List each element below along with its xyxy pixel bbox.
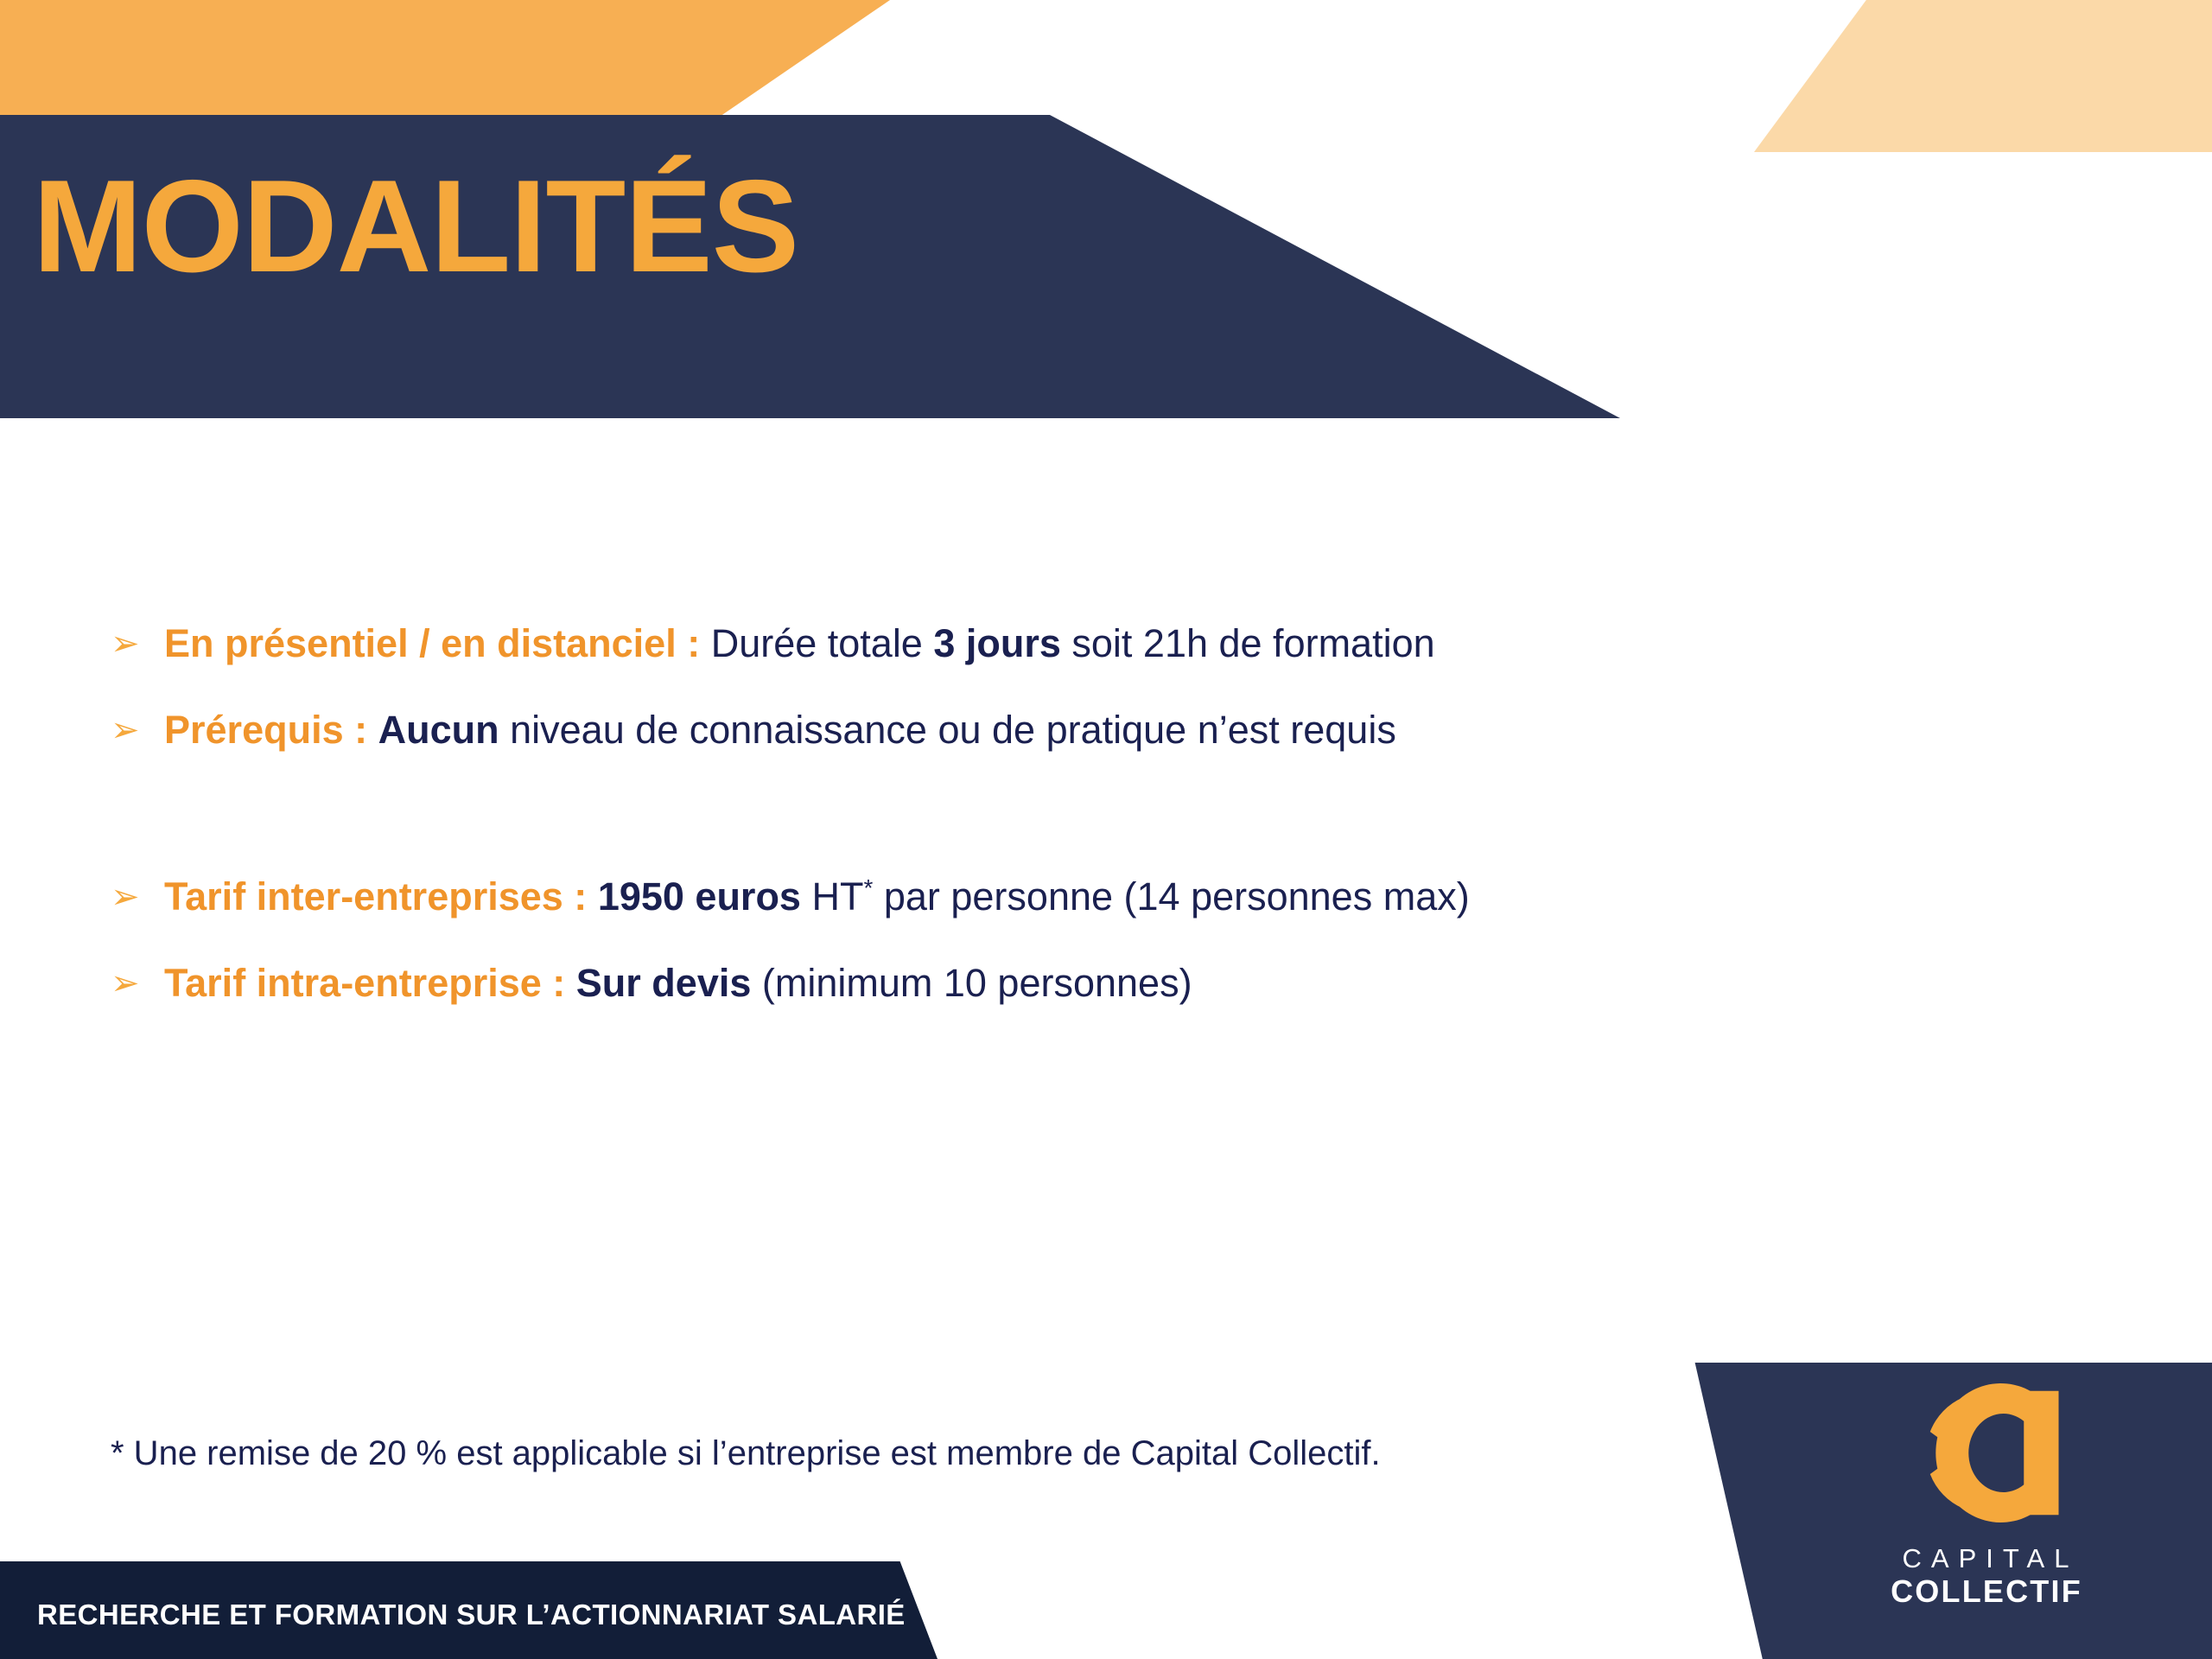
- capital-collectif-c-icon: [1910, 1377, 2062, 1529]
- bullet-tail-2: par personne (14 personnes max): [873, 874, 1469, 918]
- footnote-asterisk-marker: *: [863, 874, 873, 901]
- slide-canvas: MODALITÉS ➢ En présentiel / en distancie…: [0, 0, 2212, 1659]
- bullet-text: Tarif intra-entreprise : Sur devis (mini…: [164, 960, 1192, 1006]
- logo-word-collectif: COLLECTIF: [1870, 1574, 2101, 1609]
- bullet-tail: HT: [801, 874, 864, 918]
- bullet-lead-label: Tarif intra-entreprise :: [164, 961, 565, 1005]
- bullet-lead-label: Tarif inter-entreprises :: [164, 874, 587, 918]
- bullet-item-tarif-inter-entreprises: ➢ Tarif inter-entreprises : 1950 euros H…: [111, 874, 1752, 919]
- bullet-tail: (minimum 10 personnes): [751, 961, 1192, 1005]
- bullet-text: Tarif inter-entreprises : 1950 euros HT*…: [164, 874, 1470, 919]
- bullet-mid-normal: [587, 874, 598, 918]
- page-title: MODALITÉS: [33, 161, 798, 292]
- bullet-item-tarif-intra-entreprise: ➢ Tarif intra-entreprise : Sur devis (mi…: [111, 960, 1752, 1006]
- bullet-mid-strong: Aucun: [378, 708, 499, 752]
- footnote-text: * Une remise de 20 % est applicable si l…: [111, 1434, 1381, 1473]
- bullet-tail: soit 21h de formation: [1061, 621, 1435, 665]
- chevron-bullet-icon: ➢: [111, 880, 164, 914]
- bullet-text: Prérequis : Aucun niveau de connaissance…: [164, 707, 1396, 753]
- logo-word-capital: CAPITAL: [1870, 1544, 2101, 1574]
- orange-top-band-shape: [0, 0, 890, 116]
- bullet-lead-label: En présentiel / en distanciel :: [164, 621, 700, 665]
- bullet-item-presentiel-distanciel: ➢ En présentiel / en distanciel : Durée …: [111, 620, 1752, 666]
- bullet-item-prerequis: ➢ Prérequis : Aucun niveau de connaissan…: [111, 707, 1752, 753]
- chevron-bullet-icon: ➢: [111, 626, 164, 661]
- modalites-bullet-list: ➢ En présentiel / en distanciel : Durée …: [111, 620, 1752, 1006]
- bullet-mid-normal: [367, 708, 378, 752]
- peach-corner-shape: [1754, 0, 2212, 152]
- bullet-lead-label: Prérequis :: [164, 708, 367, 752]
- bullet-mid-normal: Durée totale: [700, 621, 933, 665]
- bullet-mid-strong: 1950 euros: [598, 874, 801, 918]
- logo: CAPITAL COLLECTIF: [1870, 1377, 2101, 1609]
- bullet-mid-strong: 3 jours: [933, 621, 1061, 665]
- bullet-mid-normal: [565, 961, 576, 1005]
- bullet-mid-strong: Sur devis: [576, 961, 752, 1005]
- bullet-text: En présentiel / en distanciel : Durée to…: [164, 620, 1435, 666]
- chevron-bullet-icon: ➢: [111, 966, 164, 1001]
- bullet-tail: niveau de connaissance ou de pratique n’…: [499, 708, 1396, 752]
- footer-tagline: RECHERCHE ET FORMATION SUR L’ACTIONNARIA…: [37, 1599, 906, 1631]
- chevron-bullet-icon: ➢: [111, 713, 164, 747]
